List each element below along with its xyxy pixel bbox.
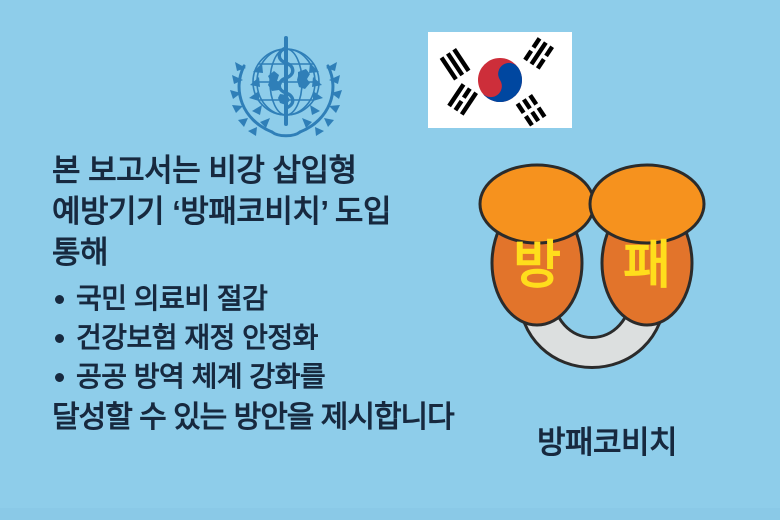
closing-line: 달성할 수 있는 방안을 제시합니다	[52, 398, 502, 438]
list-item: 건강보험 재정 안정화	[52, 318, 502, 357]
device-right-head	[590, 165, 704, 243]
list-item-label: 국민 의료비 절감	[76, 283, 267, 314]
headline-line-1: 본 보고서는 비강 삽입형	[52, 150, 502, 191]
headline-line-3: 통해	[52, 232, 502, 273]
device-left-label: 방	[513, 237, 561, 295]
bullet-dot-icon	[55, 334, 64, 343]
list-item: 국민 의료비 절감	[52, 279, 502, 318]
list-item: 공공 방역 체계 강화를	[52, 357, 502, 396]
text-block: 본 보고서는 비강 삽입형 예방기기 ‘방패코비치’ 도입 통해 국민 의료비 …	[52, 150, 502, 438]
bullet-dot-icon	[55, 295, 64, 304]
infographic-poster: 본 보고서는 비강 삽입형 예방기기 ‘방패코비치’ 도입 통해 국민 의료비 …	[0, 0, 780, 520]
device-caption: 방패코비치	[512, 417, 702, 462]
bullet-dot-icon	[55, 373, 64, 382]
benefit-bullet-list: 국민 의료비 절감 건강보험 재정 안정화 공공 방역 체계 강화를	[52, 279, 502, 396]
south-korea-flag-icon	[428, 32, 572, 128]
nasal-device-illustration: 방 패	[462, 158, 722, 428]
device-left-head	[480, 165, 594, 243]
list-item-label: 공공 방역 체계 강화를	[76, 361, 325, 392]
who-emblem-icon	[222, 24, 350, 152]
device-right-label: 패	[623, 237, 671, 295]
headline-line-2: 예방기기 ‘방패코비치’ 도입	[52, 191, 502, 232]
list-item-label: 건강보험 재정 안정화	[76, 322, 318, 353]
bottom-band	[0, 508, 780, 520]
